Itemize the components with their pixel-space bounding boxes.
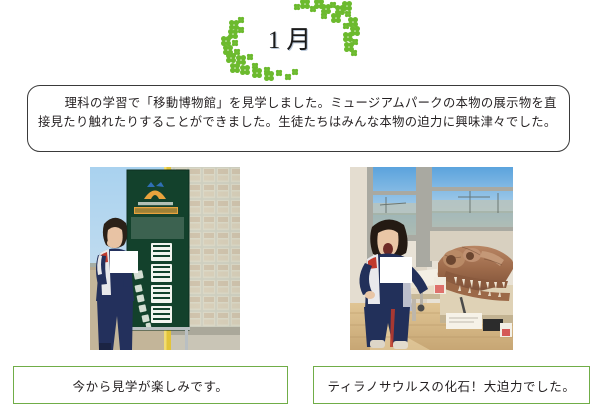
caption-text-right: ティラノサウルスの化石！大迫力でした。 [328, 376, 576, 395]
page-title: 1月 [205, 20, 380, 56]
caption-text-left: 今から見学が楽しみです。 [73, 376, 229, 395]
main-text-box: 理科の学習で「移動博物館」を見学しました。ミュージアムパークの本物の展示物を直接… [27, 85, 570, 152]
photo-trex-fossil [350, 167, 513, 350]
photo-museum-banner [90, 167, 240, 350]
main-text-body: 理科の学習で「移動博物館」を見学しました。ミュージアムパークの本物の展示物を直接… [38, 94, 557, 132]
caption-box-left: 今から見学が楽しみです。 [13, 366, 288, 404]
caption-box-right: ティラノサウルスの化石！大迫力でした。 [313, 366, 590, 404]
page-title-area: 1月 [205, 0, 380, 82]
